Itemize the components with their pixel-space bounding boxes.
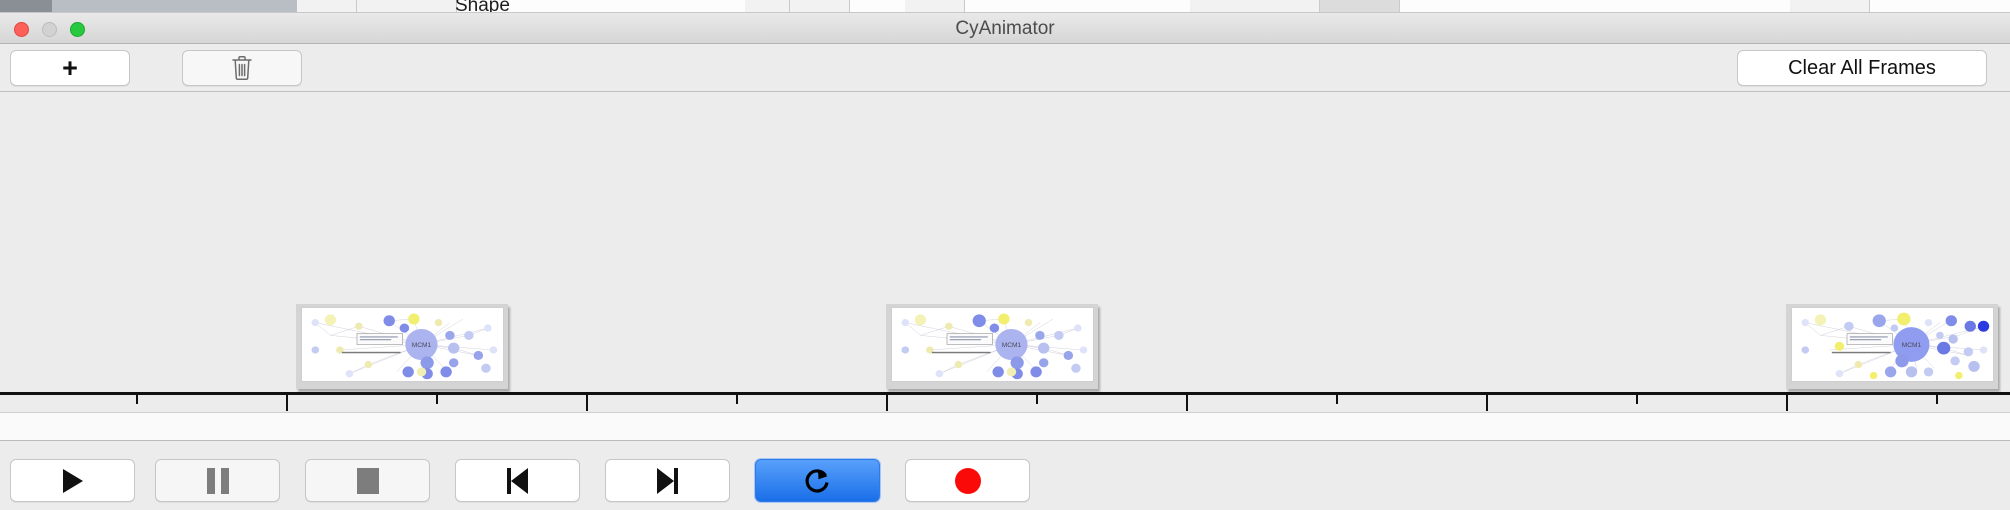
loop-button[interactable] bbox=[755, 459, 880, 502]
add-frame-button[interactable]: + bbox=[10, 50, 130, 86]
pause-icon bbox=[207, 468, 229, 494]
background-window-strip: Shape bbox=[0, 0, 2010, 13]
axis-tick-minor bbox=[1636, 395, 1638, 404]
background-segment bbox=[745, 0, 790, 13]
play-icon bbox=[63, 469, 83, 493]
axis-tick-minor bbox=[1936, 395, 1938, 404]
axis-tick-major bbox=[1186, 395, 1188, 411]
axis-tick-major bbox=[1486, 395, 1488, 411]
background-segment bbox=[297, 0, 357, 13]
frame-thumbnail-image: MCM1 bbox=[891, 307, 1094, 382]
background-strip-dark bbox=[0, 0, 52, 13]
axis-tick-major bbox=[886, 395, 888, 411]
cyanimator-window: Shape CyAnimator + Clear All Frames bbox=[0, 0, 2010, 510]
axis-tick-minor bbox=[136, 395, 138, 404]
trash-icon bbox=[231, 55, 253, 81]
background-segment bbox=[1320, 0, 1400, 13]
timeline-panel[interactable]: MCM1 bbox=[0, 92, 2010, 413]
stop-button[interactable] bbox=[305, 459, 430, 502]
frame-thumbnail-image: MCM1 bbox=[301, 307, 504, 382]
background-segment bbox=[1790, 0, 1870, 13]
timeline-axis bbox=[0, 392, 2010, 395]
frame-thumbnail-image: MCM1 bbox=[1791, 307, 1994, 382]
background-strip-grey bbox=[52, 0, 297, 13]
toolbar: + Clear All Frames bbox=[0, 44, 2010, 92]
play-button[interactable] bbox=[10, 459, 135, 502]
background-segment bbox=[1190, 0, 1320, 13]
pause-button[interactable] bbox=[155, 459, 280, 502]
previous-frame-button[interactable] bbox=[455, 459, 580, 502]
title-bar: CyAnimator bbox=[0, 13, 2010, 44]
axis-tick-major bbox=[586, 395, 588, 411]
delete-frame-button[interactable] bbox=[182, 50, 302, 86]
network-graph-3: MCM1 bbox=[1792, 308, 1993, 381]
axis-tick-minor bbox=[436, 395, 438, 404]
clear-all-frames-button[interactable]: Clear All Frames bbox=[1737, 50, 1987, 86]
svg-text:MCM1: MCM1 bbox=[1002, 342, 1022, 349]
loop-icon bbox=[803, 466, 833, 496]
skip-forward-icon bbox=[657, 468, 678, 494]
svg-text:MCM1: MCM1 bbox=[412, 342, 432, 349]
window-title: CyAnimator bbox=[0, 13, 2010, 44]
network-graph-2: MCM1 bbox=[892, 308, 1093, 381]
background-segment bbox=[790, 0, 850, 13]
record-button[interactable] bbox=[905, 459, 1030, 502]
skip-back-icon bbox=[507, 468, 528, 494]
background-segment bbox=[905, 0, 965, 13]
record-icon bbox=[955, 468, 981, 494]
frame-thumbnail-2[interactable]: MCM1 bbox=[886, 304, 1098, 389]
next-frame-button[interactable] bbox=[605, 459, 730, 502]
axis-tick-minor bbox=[1036, 395, 1038, 404]
axis-tick-minor bbox=[1336, 395, 1338, 404]
clear-all-frames-label: Clear All Frames bbox=[1788, 57, 1936, 80]
plus-icon: + bbox=[62, 55, 78, 82]
background-window-label: Shape bbox=[455, 0, 510, 13]
frame-thumbnail-1[interactable]: MCM1 bbox=[296, 304, 508, 389]
timeline-scrollbar[interactable] bbox=[0, 413, 2010, 441]
stop-icon bbox=[357, 468, 379, 494]
axis-tick-minor bbox=[736, 395, 738, 404]
background-segment bbox=[357, 0, 457, 13]
playback-controls: Animation Speed: bbox=[0, 442, 2010, 510]
axis-tick-major bbox=[286, 395, 288, 411]
svg-text:MCM1: MCM1 bbox=[1902, 342, 1922, 349]
axis-tick-major bbox=[1786, 395, 1788, 411]
network-graph-1: MCM1 bbox=[302, 308, 503, 381]
frame-thumbnail-3[interactable]: MCM1 bbox=[1786, 304, 1998, 389]
